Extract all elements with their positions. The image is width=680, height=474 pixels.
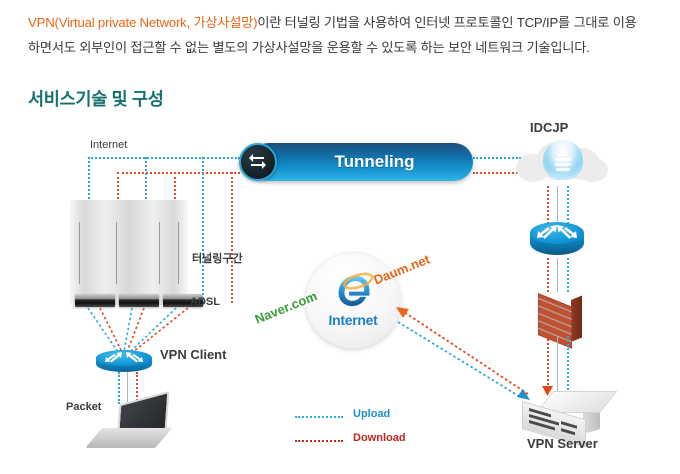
label-packet: Packet [66,401,101,413]
legend-line-download [295,440,343,442]
upload-drop-3 [202,157,204,303]
label-adsl: ADSL [190,296,220,308]
bidirectional-arrows-icon [239,143,277,181]
pill-cloud-download-line [473,172,521,174]
diagram-page: VPN(Virtual private Network, 가상사설망)이란 터널… [0,0,680,474]
upload-trunk-line [88,157,240,159]
adsl-modem-2 [119,294,159,307]
internet-explorer-icon [332,268,374,310]
tunnel-bar-1 [116,222,117,284]
server-stack-glyph [543,140,583,180]
tunneling-banner: Tunneling [250,143,473,181]
tunnel-bar-2 [159,222,160,284]
label-daum: Daum.net [371,251,432,287]
router-arrows-icon [530,222,584,244]
cloud-router-upload-line [567,186,569,224]
tunnel-section-block [70,200,188,305]
label-vpn-server: VPN Server [527,436,598,451]
page-title: 서비스기술 및 구성 [28,86,164,111]
label-internet-globe: Internet [305,312,401,328]
firewall-icon [538,287,586,339]
legend-label-download: Download [353,432,406,444]
pill-cloud-upload-line [473,157,521,159]
tunneling-label: Tunneling [250,143,473,181]
cloud-router-download-line [547,186,549,224]
cloud-router-neutral-line [557,186,558,224]
download-drop-3 [231,172,233,303]
label-vpn-client: VPN Client [160,347,226,362]
download-trunk-line [117,172,240,174]
core-router-icon [530,222,584,260]
label-idcjp: IDCJP [530,120,568,135]
adsl-modem-1 [75,294,115,307]
label-tunnel-section: 터널링구간 [192,250,243,266]
laptop-icon [100,398,176,456]
legend-label-upload: Upload [353,408,390,420]
legend-line-upload [295,416,343,418]
intro-paragraph: VPN(Virtual private Network, 가상사설망)이란 터널… [28,10,638,60]
idcjp-server-dome-icon [543,140,583,180]
firewall-server-download-line [547,336,549,388]
vpn-server-icon [522,391,606,433]
firewall-server-neutral-line [557,336,558,394]
router-arrows-icon [96,350,152,366]
firewall-server-upload-line [567,336,569,394]
vpn-client-router-icon [96,350,152,376]
label-internet: Internet [90,139,127,151]
arrows-glyph [241,145,274,178]
intro-highlight: VPN(Virtual private Network, 가상사설망) [28,15,257,30]
